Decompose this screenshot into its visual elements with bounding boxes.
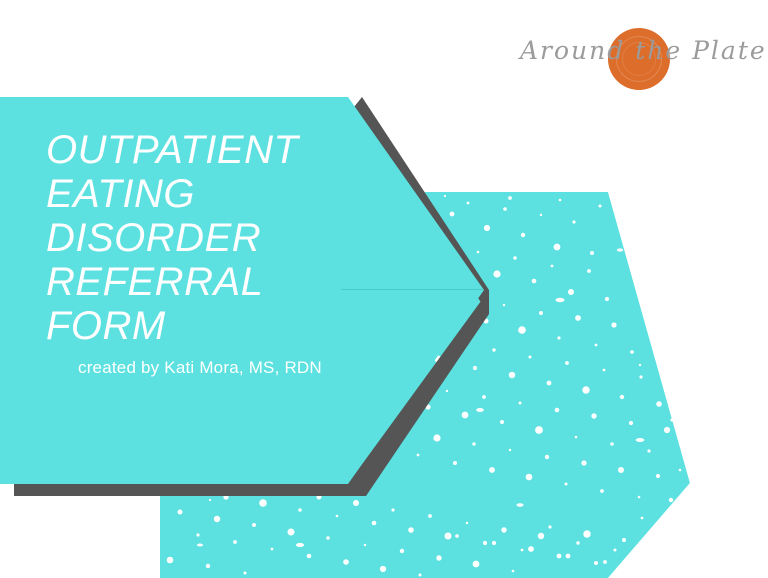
byline-text: created by Kati Mora, MS, RDN (46, 348, 376, 378)
around-the-plate-logo: Around the Plate (520, 22, 752, 100)
page-title: OUTPATIENT EATING DISORDER REFERRAL FORM (46, 128, 376, 348)
logo-wordmark: Around the Plate (520, 36, 752, 65)
slide-canvas: OUTPATIENT EATING DISORDER REFERRAL FORM… (0, 0, 768, 578)
title-block: OUTPATIENT EATING DISORDER REFERRAL FORM… (46, 128, 376, 378)
